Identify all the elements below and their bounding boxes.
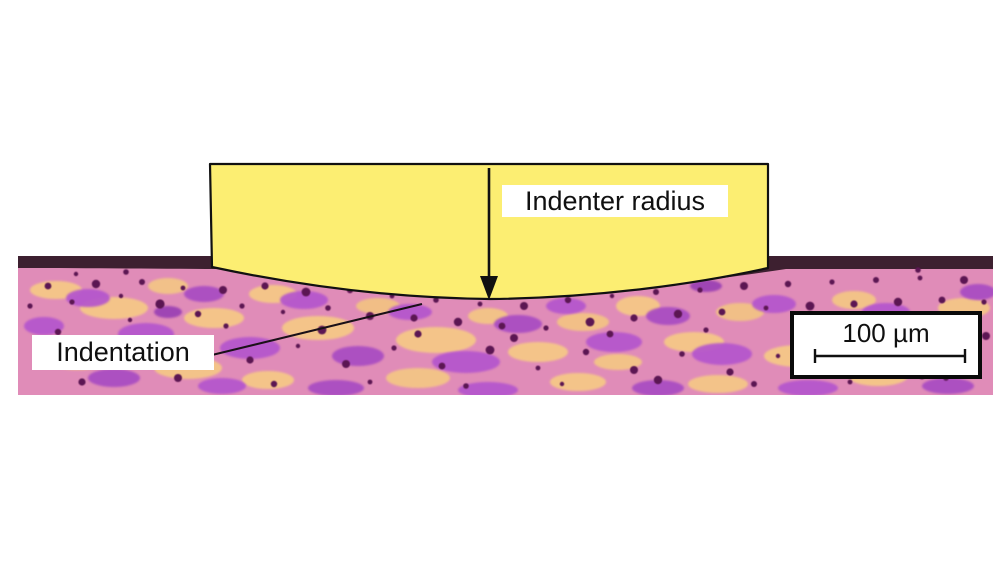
micrograph-figure: Indenter radius Indentation 100 µm bbox=[0, 0, 999, 562]
indenter-radius-label: Indenter radius bbox=[502, 185, 728, 217]
scale-bar-rule bbox=[812, 348, 968, 364]
leader-stroke bbox=[212, 304, 422, 355]
indentation-label: Indentation bbox=[32, 335, 214, 370]
indentation-leader-line bbox=[200, 295, 440, 365]
arrow-head bbox=[480, 276, 498, 300]
scale-bar-label: 100 µm bbox=[794, 320, 978, 347]
scale-bar: 100 µm bbox=[790, 311, 982, 379]
